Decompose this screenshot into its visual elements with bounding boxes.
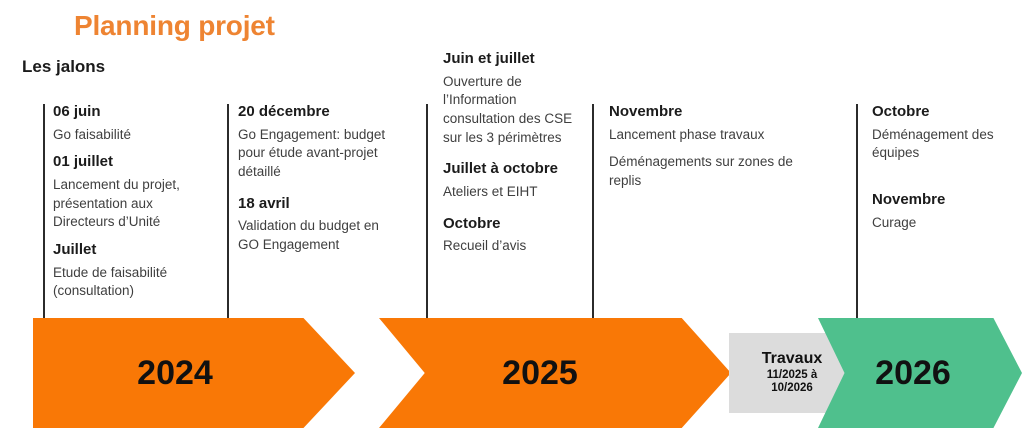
phase-label: 2026 bbox=[875, 354, 951, 393]
connector-line-2 bbox=[227, 104, 229, 331]
milestone-text: Déménagement des équipes bbox=[872, 126, 1020, 163]
milestone-text: Lancement du projet, présentation aux Di… bbox=[53, 176, 213, 232]
milestone-date: Novembre bbox=[872, 191, 1020, 210]
milestone-text: Lancement phase travaux bbox=[609, 126, 814, 145]
milestone-text: Go faisabilité bbox=[53, 126, 213, 145]
milestone-date: 20 décembre bbox=[238, 103, 398, 122]
travaux-range-line1: 11/2025 à bbox=[762, 369, 822, 383]
phase-label: 2024 bbox=[137, 354, 213, 393]
milestone-col-1: 06 juin Go faisabilité 01 juillet Lancem… bbox=[53, 103, 213, 310]
milestone-text: Ateliers et EIHT bbox=[443, 183, 583, 202]
phase-2024[interactable]: 2024 bbox=[33, 318, 355, 428]
milestone-text: Etude de faisabilité (consultation) bbox=[53, 264, 213, 301]
connector-line-4 bbox=[592, 104, 594, 331]
travaux-range-line2: 10/2026 bbox=[762, 382, 822, 396]
milestone-text: Déménagements sur zones de replis bbox=[609, 153, 814, 190]
milestone-text: Curage bbox=[872, 214, 1020, 233]
milestone-date: 06 juin bbox=[53, 103, 213, 122]
phase-2025[interactable]: 2025 bbox=[379, 318, 731, 428]
milestone-text: Go Engagement: budget pour étude avant-p… bbox=[238, 126, 398, 182]
milestone-date: Octobre bbox=[443, 215, 583, 234]
phase-label: 2025 bbox=[502, 354, 578, 393]
connector-line-3 bbox=[426, 104, 428, 331]
phase-2026[interactable]: 2026 bbox=[818, 318, 1022, 428]
connector-line-5 bbox=[856, 104, 858, 331]
milestone-col-2: 20 décembre Go Engagement: budget pour é… bbox=[238, 103, 398, 264]
section-subtitle: Les jalons bbox=[22, 57, 105, 77]
milestone-date: 18 avril bbox=[238, 195, 398, 214]
milestone-text: Recueil d’avis bbox=[443, 237, 583, 256]
milestone-text: Ouverture de l’Information consultation … bbox=[443, 73, 583, 148]
milestone-text: Validation du budget en GO Engagement bbox=[238, 217, 398, 254]
milestone-date: 01 juillet bbox=[53, 153, 213, 172]
timeline-diagram: Planning projet Les jalons 06 juin Go fa… bbox=[0, 0, 1024, 439]
milestone-date: Octobre bbox=[872, 103, 1020, 122]
milestone-date: Juillet bbox=[53, 241, 213, 260]
page-title: Planning projet bbox=[74, 10, 275, 42]
milestone-date: Juin et juillet bbox=[443, 50, 583, 69]
milestone-col-4: Novembre Lancement phase travaux Déménag… bbox=[609, 103, 814, 200]
milestone-date: Juillet à octobre bbox=[443, 160, 583, 179]
travaux-label: Travaux bbox=[762, 350, 822, 369]
milestone-date: Novembre bbox=[609, 103, 814, 122]
milestone-col-5: Octobre Déménagement des équipes Novembr… bbox=[872, 103, 1020, 241]
connector-line-1 bbox=[43, 104, 45, 331]
travaux-text-block: Travaux 11/2025 à 10/2026 bbox=[762, 350, 822, 396]
milestone-col-3: Juin et juillet Ouverture de l’Informati… bbox=[443, 50, 583, 265]
